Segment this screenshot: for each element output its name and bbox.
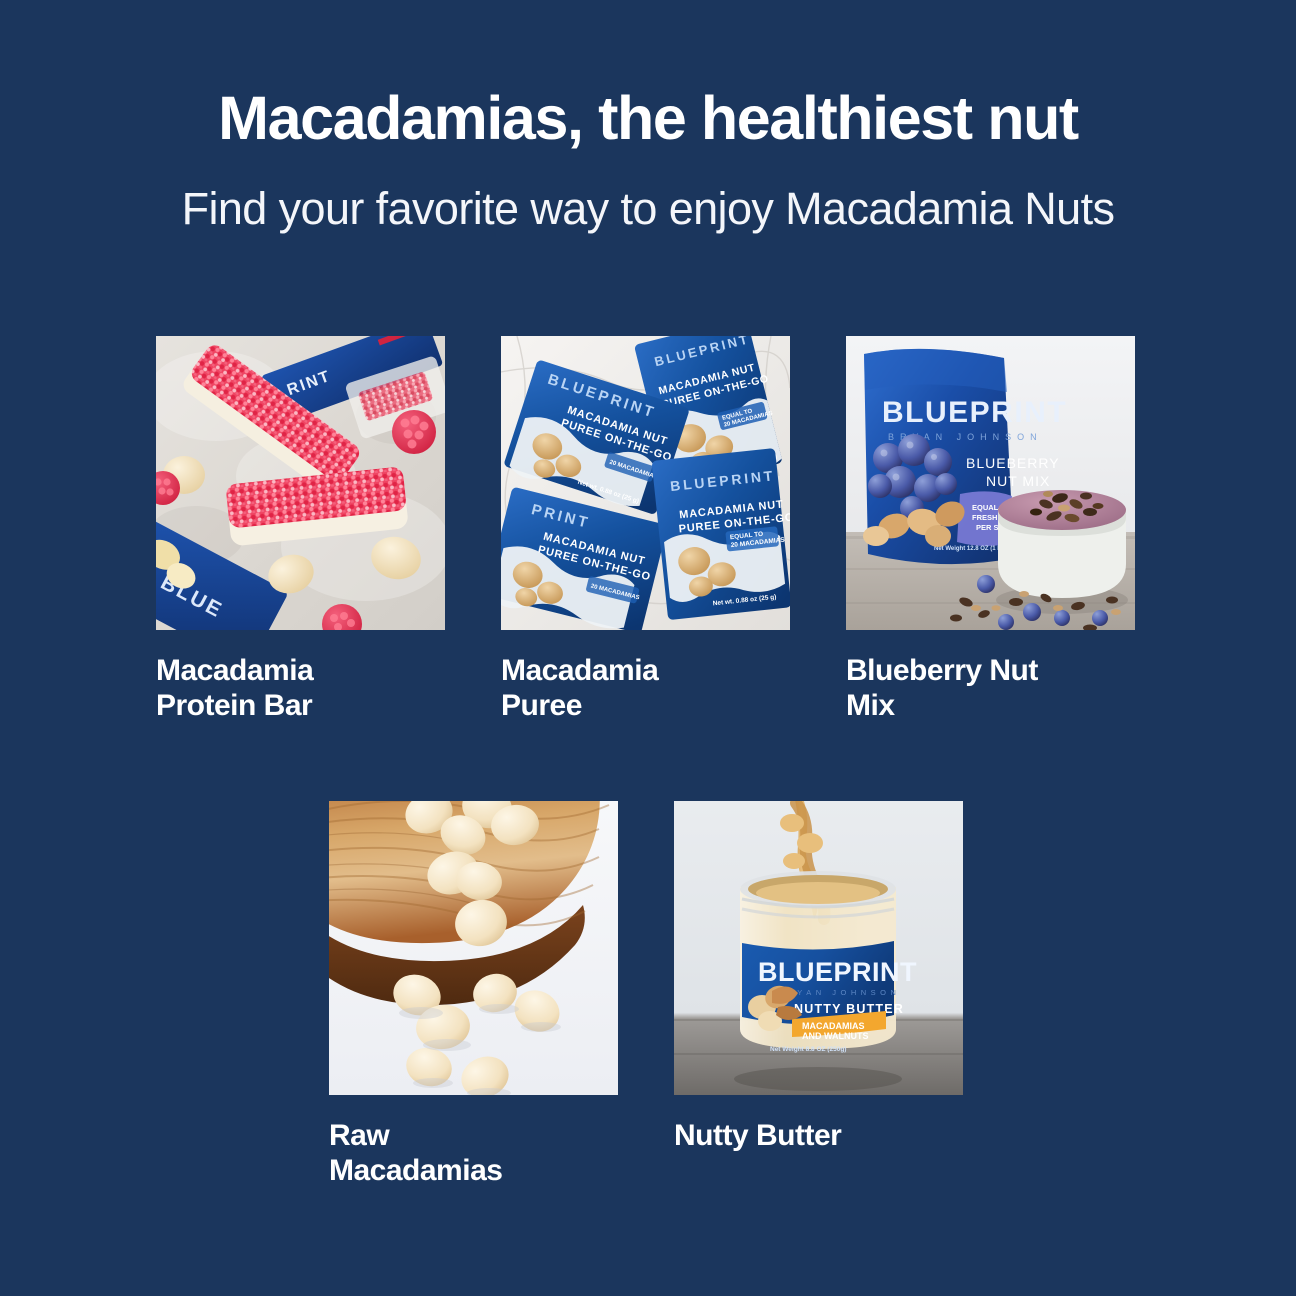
product-label: Macadamia Protein Bar <box>156 654 445 724</box>
svg-text:BLUEPRINT: BLUEPRINT <box>882 396 1067 429</box>
page-subtitle: Find your favorite way to enjoy Macadami… <box>0 184 1296 234</box>
promo-page: Macadamias, the healthiest nut Find your… <box>0 0 1296 1296</box>
product-card-raw-macadamias[interactable]: Raw Macadamias <box>329 801 618 1189</box>
macadamia-protein-bar-photo[interactable]: RINT <box>156 336 445 630</box>
product-card-blueberry-nut-mix[interactable]: BLUEPRINT BRYAN JOHNSON BLUEBERRY NUT MI… <box>846 336 1135 724</box>
svg-text:MACADAMIAS: MACADAMIAS <box>802 1021 865 1031</box>
raw-macadamias-photo[interactable] <box>329 801 618 1095</box>
product-grid-row-2: Raw Macadamias <box>329 801 963 1189</box>
blueberry-nut-mix-photo[interactable]: BLUEPRINT BRYAN JOHNSON BLUEBERRY NUT MI… <box>846 336 1135 630</box>
product-label: Macadamia Puree <box>501 654 790 724</box>
nutty-butter-photo[interactable]: BLUEPRINT BRYAN JOHNSON NUTTY BUTTER MAC… <box>674 801 963 1095</box>
product-card-nutty-butter[interactable]: BLUEPRINT BRYAN JOHNSON NUTTY BUTTER MAC… <box>674 801 963 1189</box>
svg-text:NUTTY BUTTER: NUTTY BUTTER <box>794 1002 904 1016</box>
page-title: Macadamias, the healthiest nut <box>0 86 1296 150</box>
svg-text:BLUEPRINT: BLUEPRINT <box>758 957 917 987</box>
svg-text:Net Weight 8.8 OZ (250g): Net Weight 8.8 OZ (250g) <box>770 1046 846 1053</box>
product-card-macadamia-puree[interactable]: BLUEPRINT MACADAMIA NUT PUREE ON-THE-GO … <box>501 336 790 724</box>
product-label: Blueberry Nut Mix <box>846 654 1135 724</box>
product-grid-row-1: RINT <box>156 336 1135 724</box>
product-label: Nutty Butter <box>674 1119 963 1154</box>
product-card-macadamia-protein-bar[interactable]: RINT <box>156 336 445 724</box>
macadamia-puree-photo[interactable]: BLUEPRINT MACADAMIA NUT PUREE ON-THE-GO … <box>501 336 790 630</box>
svg-text:NUT MIX: NUT MIX <box>986 473 1050 489</box>
header: Macadamias, the healthiest nut Find your… <box>0 0 1296 234</box>
product-label: Raw Macadamias <box>329 1119 618 1189</box>
svg-text:BLUEBERRY: BLUEBERRY <box>966 455 1060 471</box>
svg-text:AND WALNUTS: AND WALNUTS <box>802 1031 869 1041</box>
